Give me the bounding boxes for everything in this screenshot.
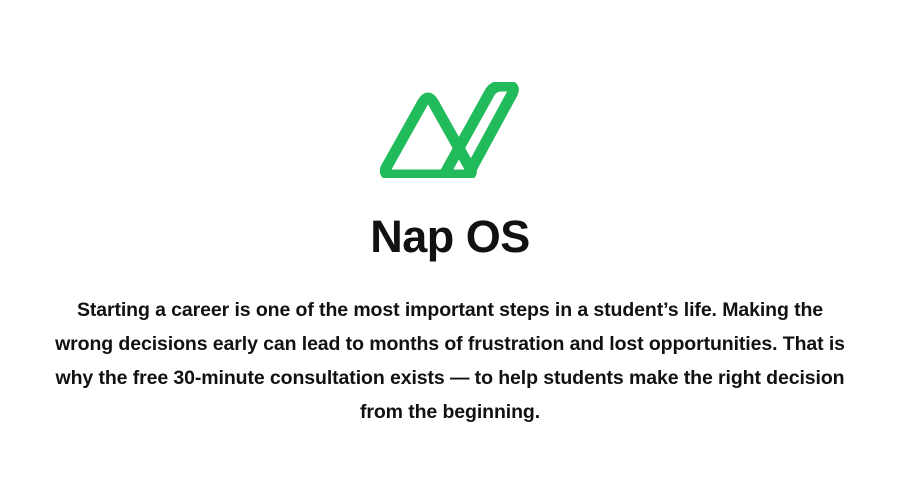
slide-container: Nap OS Starting a career is one of the m…	[0, 0, 900, 500]
body-paragraph: Starting a career is one of the most imp…	[50, 293, 850, 429]
page-title: Nap OS	[370, 214, 530, 259]
nap-os-logo-icon	[380, 82, 520, 178]
nap-os-logo	[380, 82, 520, 178]
